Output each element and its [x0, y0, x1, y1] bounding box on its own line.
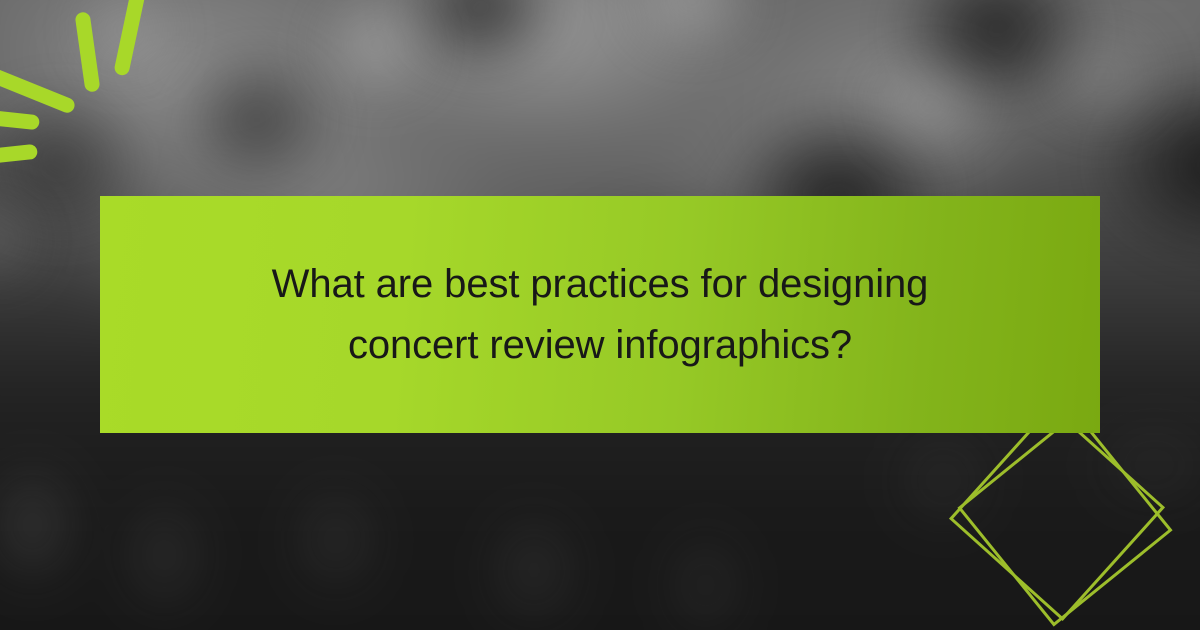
rotated-square-front [960, 414, 1171, 625]
question-banner: What are best practices for designing co… [100, 196, 1100, 433]
starburst-sparkle-icon [0, 0, 200, 170]
rotated-squares-decoration [940, 400, 1200, 630]
question-card: What are best practices for designing co… [0, 0, 1200, 630]
rotated-square-back [951, 407, 1163, 619]
question-text: What are best practices for designing co… [235, 254, 965, 376]
